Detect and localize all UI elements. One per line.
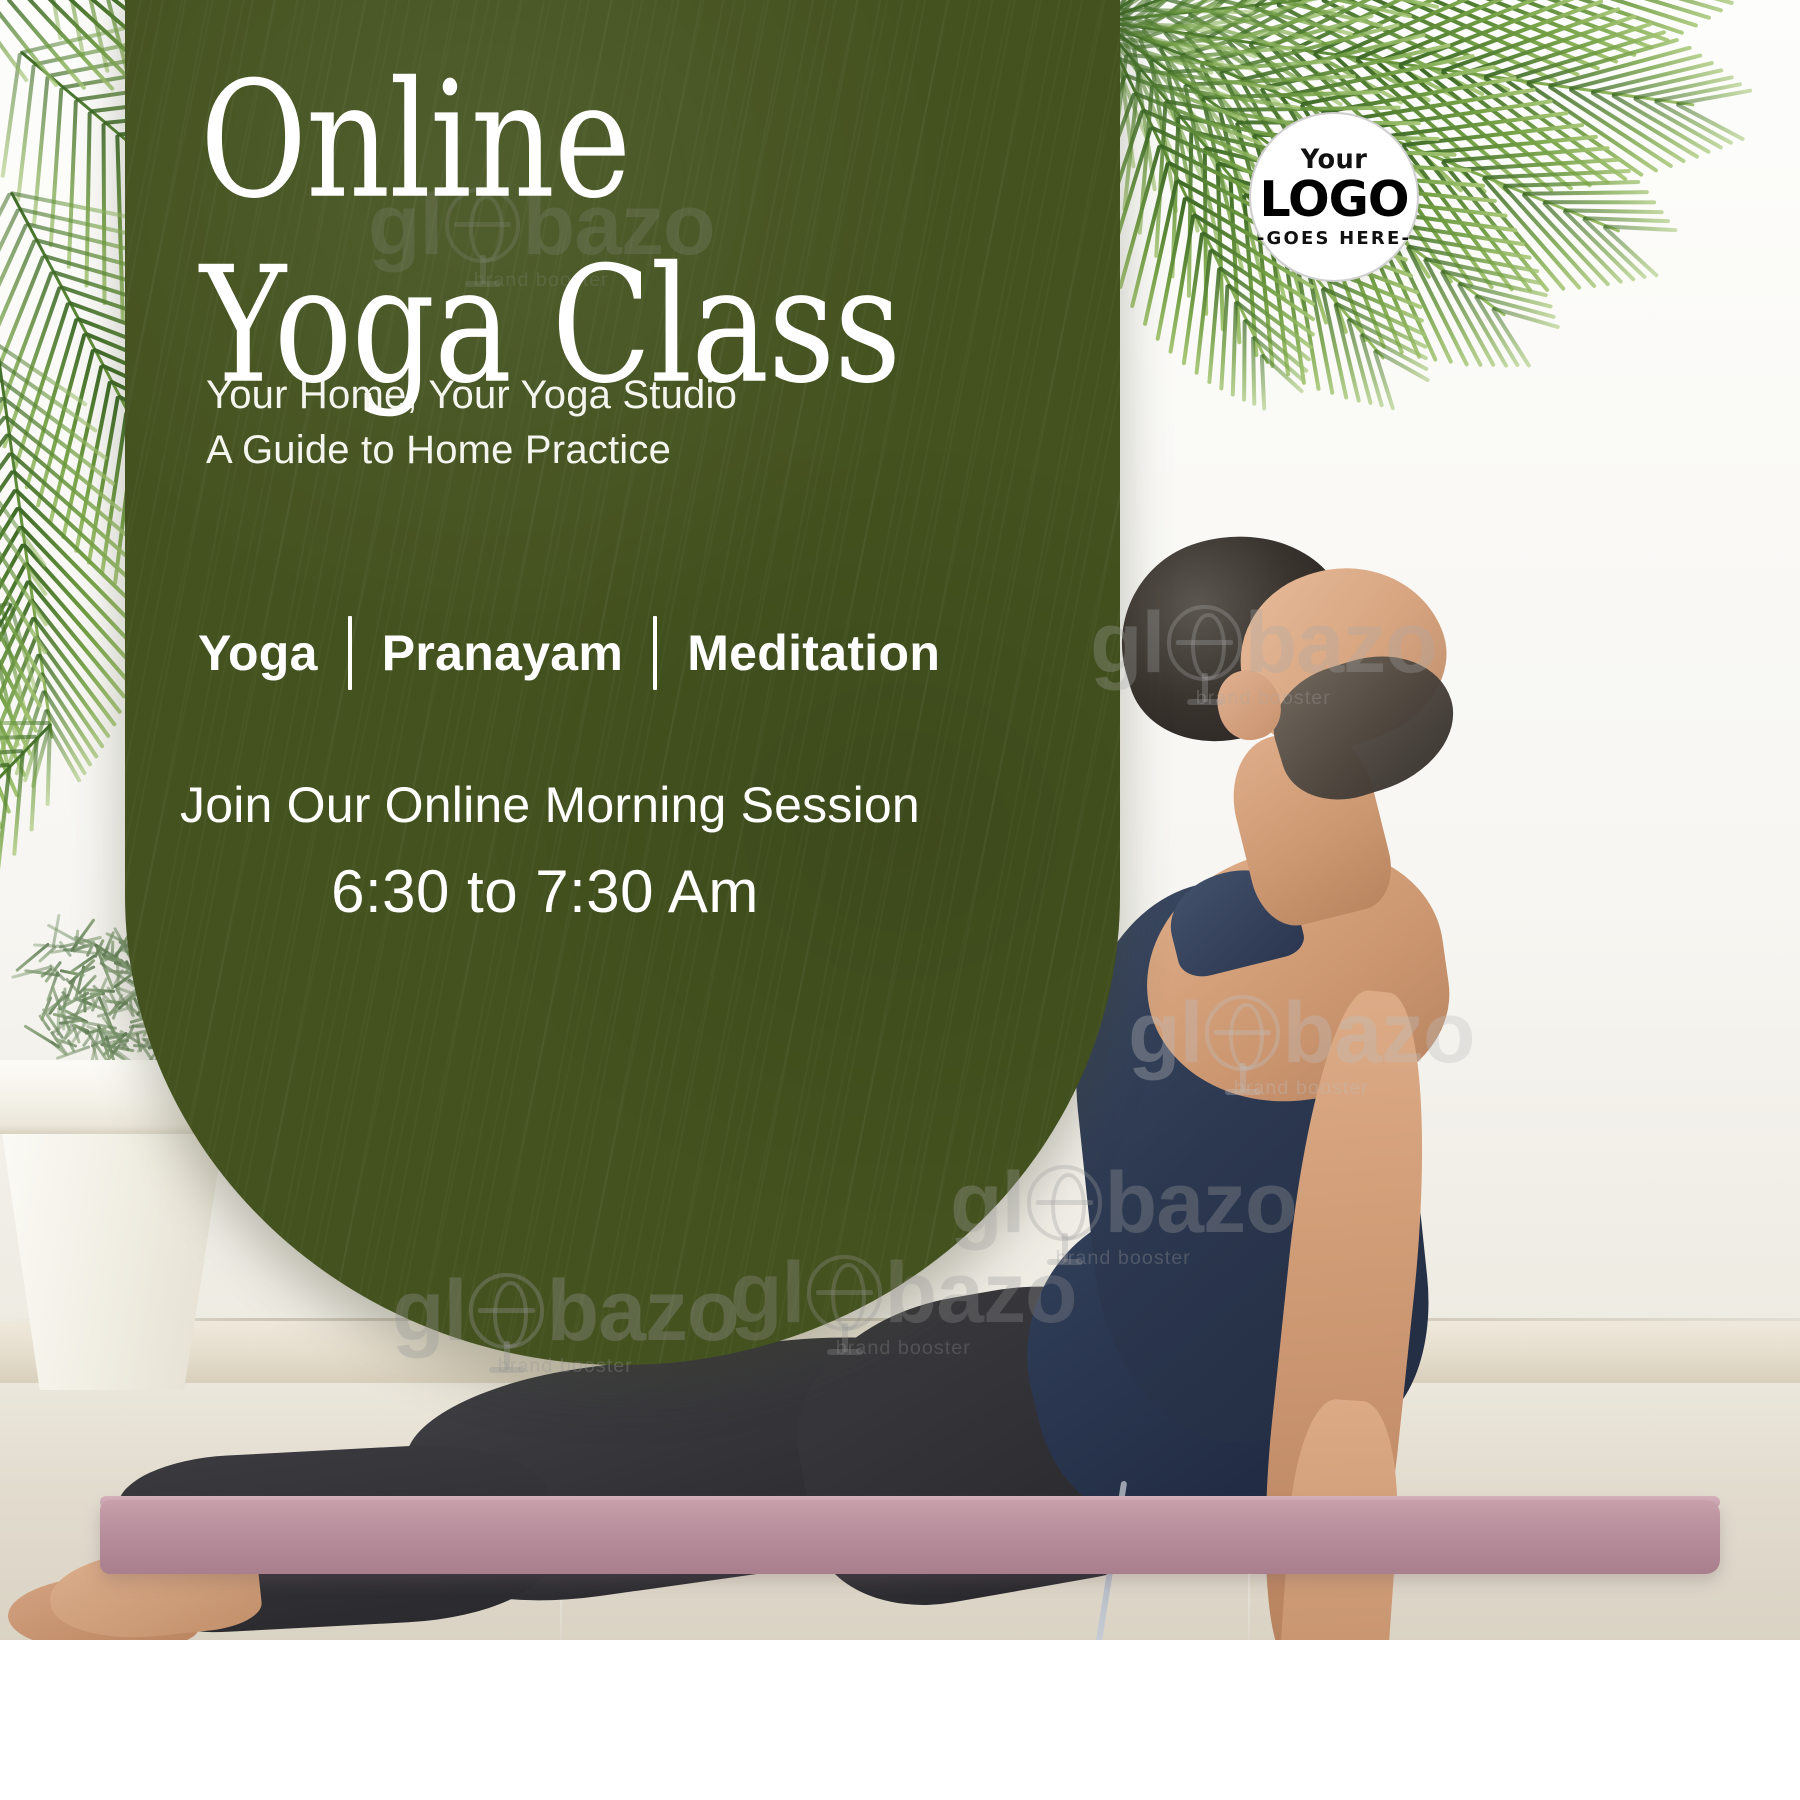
headline-line-1: Online	[200, 60, 1026, 224]
poster-headline: Online Yoga Class	[200, 60, 1060, 383]
subtitle-line-2: A Guide to Home Practice	[206, 423, 1046, 478]
service-divider	[653, 616, 657, 690]
service-item-pranayam: Pranayam	[382, 624, 623, 682]
services-list: Yoga Pranayam Meditation	[198, 616, 1078, 690]
planter-body	[2, 1132, 224, 1390]
poster-footer: 8171-778899 www.globazo.in | live @ glob…	[0, 1640, 1800, 1800]
logo-badge-top-text: Your	[1301, 146, 1368, 173]
service-divider	[348, 616, 352, 690]
subtitle-line-1: Your Home, Your Yoga Studio	[206, 368, 1046, 423]
session-time: 6:30 to 7:30 Am	[180, 857, 1060, 926]
yoga-mat	[100, 1500, 1720, 1574]
service-item-meditation: Meditation	[687, 624, 940, 682]
logo-badge-main-text: LOGO	[1259, 175, 1408, 224]
logo-placeholder-badge[interactable]: Your LOGO -GOES HERE-	[1249, 112, 1419, 282]
yoga-figure	[1050, 520, 1800, 1620]
service-item-yoga: Yoga	[198, 624, 318, 682]
poster-subtitle: Your Home, Your Yoga Studio A Guide to H…	[206, 368, 1046, 478]
logo-badge-bottom-text: -GOES HERE-	[1257, 230, 1411, 248]
session-heading: Join Our Online Morning Session	[180, 775, 1060, 835]
session-info: Join Our Online Morning Session 6:30 to …	[180, 775, 1060, 926]
yoga-class-poster: gl bazo brand booster Online Yoga Class …	[0, 0, 1800, 1800]
shrub-needle	[33, 944, 62, 949]
